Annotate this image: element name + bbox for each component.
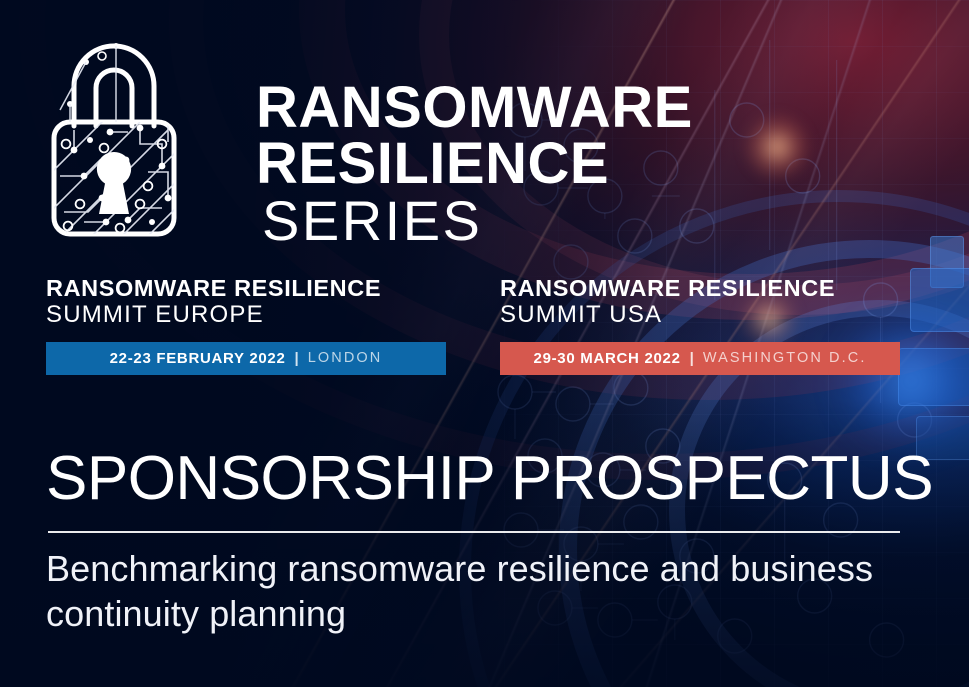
chip-block-small — [930, 236, 964, 288]
event-title-light-europe: SUMMIT EUROPE — [46, 301, 446, 329]
page-subtitle: Benchmarking ransomware resilience and b… — [46, 546, 926, 636]
event-card-europe: RANSOMWARE RESILIENCE SUMMIT EUROPE 22-2… — [46, 276, 446, 375]
event-title-bold-europe: RANSOMWARE RESILIENCE — [46, 276, 446, 301]
series-logo-lockup: RANSOMWARE RESILIENCE SERIES — [44, 26, 693, 251]
lens-flare-upper — [742, 112, 812, 182]
event-location-usa: WASHINGTON D.C. — [703, 350, 867, 366]
padlock-circuit-icon — [44, 26, 184, 241]
brand-line-ransomware: RANSOMWARE — [256, 80, 693, 136]
event-date-europe: 22-23 FEBRUARY 2022 — [110, 350, 286, 367]
event-location-europe: LONDON — [308, 350, 383, 366]
brand-line-resilience: RESILIENCE — [256, 136, 693, 192]
event-title-bold-usa: RANSOMWARE RESILIENCE — [500, 276, 900, 301]
page-title: SPONSORSHIP PROSPECTUS — [46, 448, 933, 510]
event-card-usa: RANSOMWARE RESILIENCE SUMMIT USA 29-30 M… — [500, 276, 900, 375]
title-divider — [48, 531, 900, 533]
brand-line-series: SERIES — [262, 191, 693, 250]
sponsorship-prospectus-cover: RANSOMWARE RESILIENCE SERIES RANSOMWARE … — [0, 0, 969, 687]
event-date-bar-europe[interactable]: 22-23 FEBRUARY 2022 | LONDON — [46, 342, 446, 375]
brand-wordmark: RANSOMWARE RESILIENCE SERIES — [256, 80, 693, 251]
event-separator-europe: | — [295, 350, 299, 367]
event-list: RANSOMWARE RESILIENCE SUMMIT EUROPE 22-2… — [46, 276, 926, 375]
event-date-bar-usa[interactable]: 29-30 MARCH 2022 | WASHINGTON D.C. — [500, 342, 900, 375]
event-title-light-usa: SUMMIT USA — [500, 301, 900, 329]
event-separator-usa: | — [690, 350, 694, 367]
event-date-usa: 29-30 MARCH 2022 — [534, 350, 681, 367]
